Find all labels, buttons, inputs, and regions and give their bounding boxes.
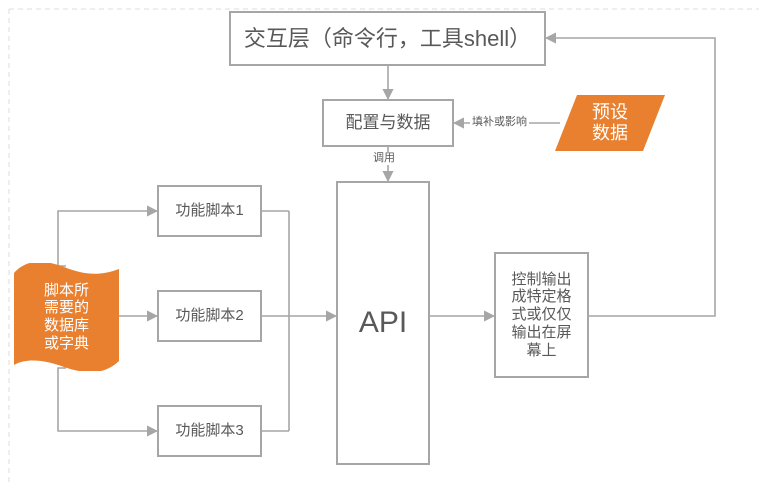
node-interactive-layer[interactable]: 交互层（命令行，工具shell） [229,11,546,66]
node-config-data-label: 配置与数据 [346,113,431,133]
node-script-3-label: 功能脚本3 [175,422,243,440]
node-output-label: 控制输出 成特定格 式或仅仅 输出在屏 幕上 [511,271,571,359]
node-script-1-label: 功能脚本1 [175,202,243,220]
node-preset-data[interactable]: 预设 数据 [555,95,665,151]
diagram-canvas: 交互层（命令行，工具shell） 配置与数据 API 功能脚本1 功能脚本2 功… [0,0,759,483]
edge-scriptdata-bus [58,211,157,266]
edge-label-invoke: 调用 [371,152,397,165]
edge-label-fill-or-affect: 填补或影响 [470,116,529,129]
edge-scriptdata-bus-lower [58,368,157,431]
node-script-data-label: 脚本所 需要的 数据库 或字典 [14,282,119,353]
node-interactive-layer-label: 交互层（命令行，工具shell） [244,26,531,52]
node-script-3[interactable]: 功能脚本3 [157,405,262,457]
node-script-data[interactable]: 脚本所 需要的 数据库 或字典 [14,263,119,371]
node-script-2-label: 功能脚本2 [175,307,243,325]
node-output[interactable]: 控制输出 成特定格 式或仅仅 输出在屏 幕上 [494,252,589,378]
node-script-2[interactable]: 功能脚本2 [157,290,262,342]
node-script-1[interactable]: 功能脚本1 [157,185,262,237]
node-api[interactable]: API [336,181,430,465]
node-preset-data-label: 预设 数据 [555,102,665,144]
node-config-data[interactable]: 配置与数据 [322,99,454,147]
node-api-label: API [359,305,407,340]
